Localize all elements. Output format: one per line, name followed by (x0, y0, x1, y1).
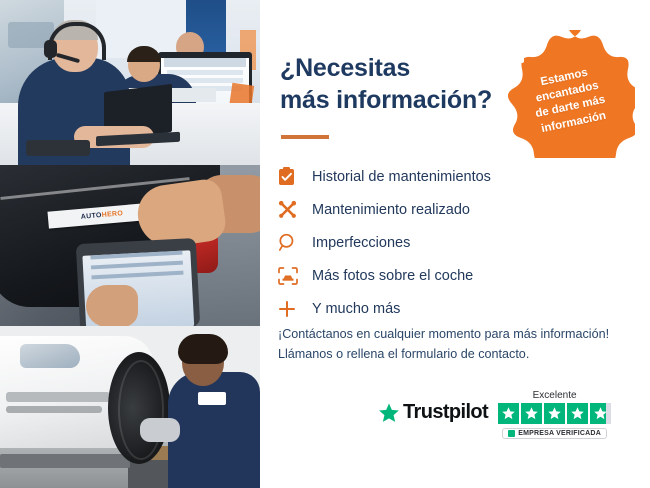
feature-item-more-photos: Más fotos sobre el coche (278, 259, 628, 292)
tablet-row (91, 261, 183, 270)
plus-icon (278, 300, 312, 318)
tablet-row (90, 251, 182, 260)
feature-label: Imperfecciones (312, 235, 410, 251)
feature-list: Historial de mantenimientos Mantenimient… (278, 160, 628, 325)
car-frame-icon (278, 267, 312, 285)
feature-item-much-more: Y mucho más (278, 292, 628, 325)
feature-item-maintenance-done: Mantenimiento realizado (278, 193, 628, 226)
contact-line-1: ¡Contáctanos en cualquier momento para m… (278, 325, 638, 345)
star-partial (590, 403, 611, 424)
desk-tablet (26, 140, 90, 156)
call-center-photo (0, 0, 260, 165)
contact-text: ¡Contáctanos en cualquier momento para m… (278, 325, 638, 364)
technician-glove (140, 418, 180, 442)
feature-label: Historial de mantenimientos (312, 169, 491, 185)
car-grille (6, 392, 110, 402)
headset-earcup (44, 40, 57, 58)
workshop-photo (0, 326, 260, 488)
verified-label: EMPRESA VERIFICADA (518, 430, 601, 437)
trustpilot-wordmark: Trustpilot (403, 401, 488, 424)
rating-label: Excelente (498, 390, 611, 401)
tire-tread (118, 360, 164, 460)
content-panel: ¿Necesitas más información? Estamos enca… (260, 0, 650, 488)
photo-column: AUTOHERO (0, 0, 260, 488)
car-lower-grille (6, 406, 102, 413)
tablet-row (91, 271, 183, 280)
ruler-brand-label: AUTOHERO (81, 210, 124, 221)
page-title-line-2: más información? (280, 84, 510, 116)
contact-line-2: Llámanos o rellena el formulario de cont… (278, 345, 638, 365)
trustpilot-rating: Excelente (498, 390, 611, 442)
star-filled (567, 403, 588, 424)
technician-hair (178, 334, 228, 364)
clipboard-check-icon (278, 167, 312, 186)
title-divider (281, 135, 329, 139)
feature-label: Mantenimiento realizado (312, 202, 470, 218)
feature-item-service-history: Historial de mantenimientos (278, 160, 628, 193)
car-lift-ramp (0, 454, 130, 468)
technician-body (168, 372, 260, 488)
trustpilot-logo: Trustpilot (378, 401, 488, 424)
car-headlight (20, 344, 80, 368)
screen-toolbar (164, 58, 246, 67)
trustpilot-widget[interactable]: Trustpilot Excelente (378, 390, 636, 442)
inspection-photo: AUTOHERO (0, 165, 260, 326)
inspector-hand-lower (86, 285, 138, 326)
crossed-tools-icon (278, 200, 312, 219)
page-title: ¿Necesitas más información? (280, 52, 510, 116)
star-filled (544, 403, 565, 424)
check-icon (508, 430, 515, 437)
star-filled (521, 403, 542, 424)
page-title-line-1: ¿Necesitas (280, 52, 510, 84)
promo-badge: Estamos encantados de darte más informac… (503, 26, 635, 158)
screen-row (167, 70, 243, 75)
trustpilot-star-icon (378, 402, 400, 424)
star-filled (498, 403, 519, 424)
uniform-logo-patch (198, 392, 226, 405)
magnifier-icon (278, 233, 312, 252)
promo-banner: AUTOHERO (0, 0, 650, 488)
headset-glyph (503, 46, 525, 64)
star-rating (498, 403, 611, 424)
feature-label: Más fotos sobre el coche (312, 268, 473, 284)
feature-label: Y mucho más (312, 301, 400, 317)
verified-badge: EMPRESA VERIFICADA (502, 428, 607, 439)
feature-item-imperfections: Imperfecciones (278, 226, 628, 259)
